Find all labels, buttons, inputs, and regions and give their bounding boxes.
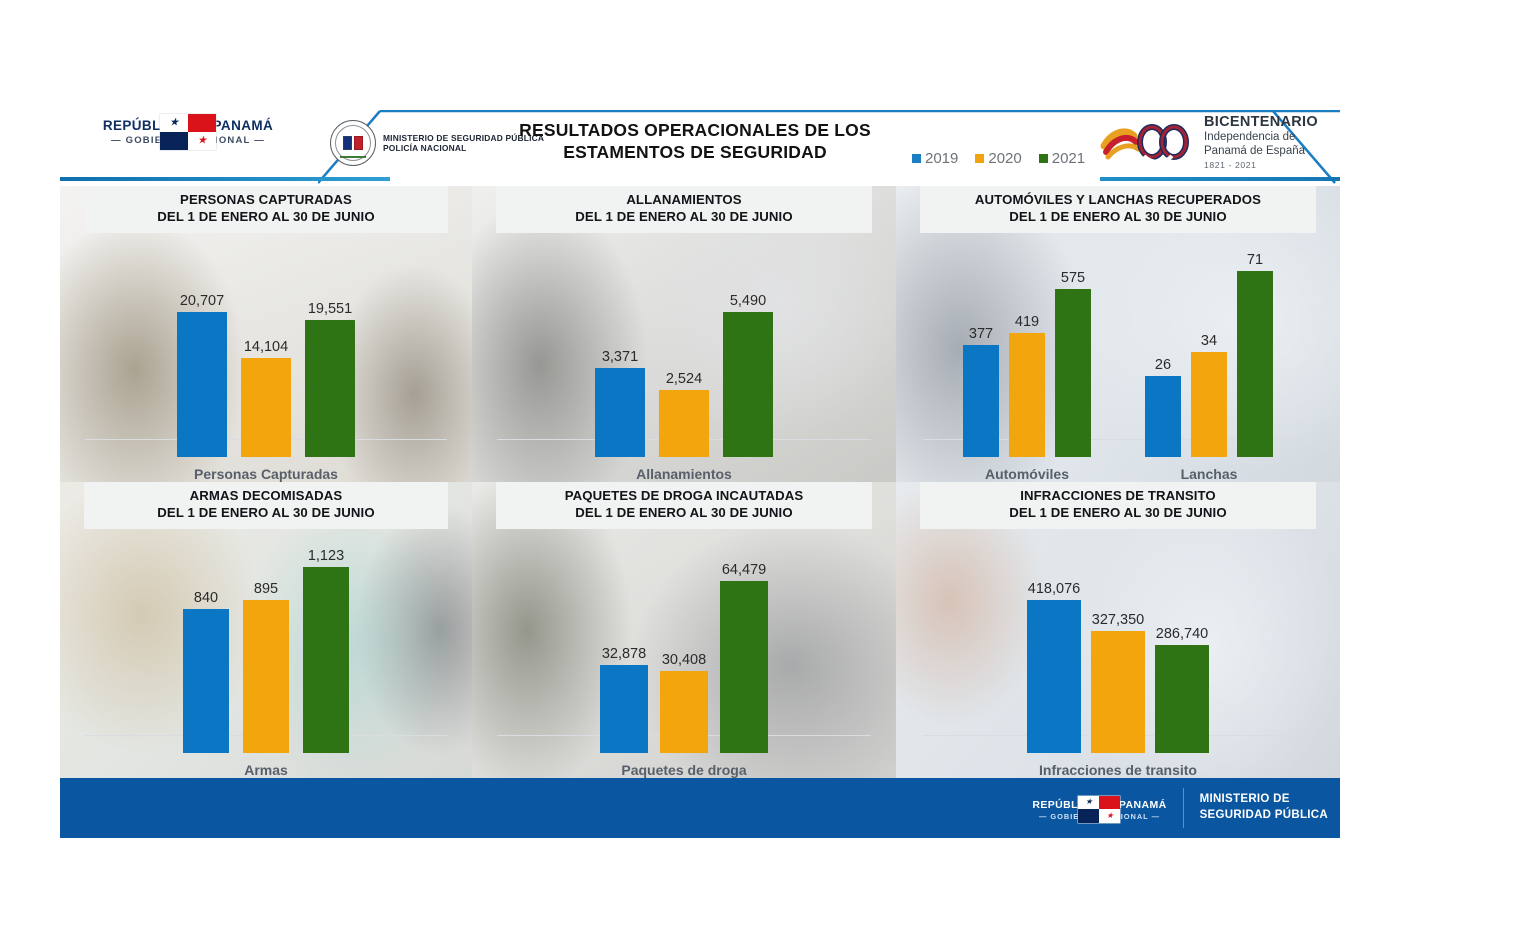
slide-canvas: ★ ★ REPÚBLICA DE PANAMÁ — GOBIERNO NACIO… (60, 108, 1340, 838)
category-label-lanchas: Lanchas (1145, 466, 1273, 482)
legend-item-2019: 2019 (912, 150, 958, 167)
bar-value-2021: 64,479 (722, 562, 766, 578)
bar-groups: 377 419 575 Autom (896, 265, 1340, 482)
bar-groups: 3,371 2,524 5,490 (472, 265, 896, 482)
bars: 20,707 14,104 19,551 (177, 265, 355, 457)
category-label-armas: Armas (183, 762, 349, 778)
bicentenario-line4: 1821 - 2021 (1204, 160, 1318, 170)
bar-rect-2019 (177, 312, 227, 457)
bar-rect-2021 (303, 567, 349, 753)
bar-2020[interactable]: 419 (1009, 314, 1045, 457)
chart-title-main: INFRACCIONES DE TRANSITO (926, 488, 1310, 505)
bar-value-2020: 2,524 (666, 371, 702, 387)
bar-value-2019: 840 (194, 590, 218, 606)
bar-rect-2020 (243, 600, 289, 753)
header: ★ ★ REPÚBLICA DE PANAMÁ — GOBIERNO NACIO… (60, 108, 1340, 186)
category-label-automoviles: Automóviles (963, 466, 1091, 482)
legend-swatch-2019 (912, 154, 921, 163)
bar-value-2020: 34 (1201, 333, 1217, 349)
chart-panel-infracciones-transito: INFRACCIONES DE TRANSITO DEL 1 DE ENERO … (896, 482, 1340, 778)
chart-title-armas-decomisadas: ARMAS DECOMISADAS DEL 1 DE ENERO AL 30 D… (84, 482, 448, 529)
footer-ministry-line1: MINISTERIO DE (1200, 792, 1328, 808)
bar-value-2019: 3,371 (602, 349, 638, 365)
legend-swatch-2021 (1039, 154, 1048, 163)
bar-rect-2019 (1145, 376, 1181, 457)
bar-value-2019: 32,878 (602, 646, 646, 662)
bar-rect-2019 (600, 665, 648, 753)
plot-area: 840 895 1,123 Arm (60, 544, 472, 778)
chart-title-personas-capturadas: PERSONAS CAPTURADAS DEL 1 DE ENERO AL 30… (84, 186, 448, 233)
bar-rect-2020 (1191, 352, 1227, 457)
bar-group-lanchas: 26 34 71 Lanchas (1145, 265, 1273, 482)
chart-title-main: PERSONAS CAPTURADAS (90, 192, 442, 209)
bar-rect-2019 (963, 345, 999, 457)
legend-label-2019: 2019 (925, 150, 958, 167)
bar-rect-2021 (305, 320, 355, 457)
plot-area: 418,076 327,350 286,740 (896, 544, 1340, 778)
legend-label-2020: 2020 (988, 150, 1021, 167)
bar-rect-2020 (1091, 631, 1145, 753)
footer-bar: ★ ★ REPÚBLICA DE PANAMÁ — GOBIERNO NACIO… (60, 778, 1340, 838)
bars: 377 419 575 (963, 265, 1091, 457)
bar-group-paquetes: 32,878 30,408 64,479 (600, 561, 768, 778)
chart-title-automoviles-lanchas: AUTOMÓVILES Y LANCHAS RECUPERADOS DEL 1 … (920, 186, 1316, 233)
bar-2020[interactable]: 327,350 (1091, 612, 1145, 753)
bar-2019[interactable]: 418,076 (1027, 581, 1081, 753)
bar-2019[interactable]: 20,707 (177, 293, 227, 457)
bicentenario-ribbon-icon (1100, 116, 1196, 168)
chart-subtitle: DEL 1 DE ENERO AL 30 DE JUNIO (90, 505, 442, 522)
bar-2020[interactable]: 30,408 (660, 652, 708, 753)
bar-rect-2021 (1055, 289, 1091, 457)
bar-value-2021: 19,551 (308, 301, 352, 317)
bar-2020[interactable]: 895 (243, 581, 289, 753)
bar-2021[interactable]: 5,490 (723, 293, 773, 457)
plot-area: 3,371 2,524 5,490 (472, 248, 896, 482)
bar-group-infracciones: 418,076 327,350 286,740 (1027, 561, 1209, 778)
legend-label-2021: 2021 (1052, 150, 1085, 167)
plot-area: 20,707 14,104 19,551 (60, 248, 472, 482)
category-label-personas: Personas Capturadas (177, 466, 355, 482)
bar-rect-2021 (1237, 271, 1273, 457)
chart-panel-paquetes-droga: PAQUETES DE DROGA INCAUTADAS DEL 1 DE EN… (472, 482, 896, 778)
bar-rect-2019 (183, 609, 229, 753)
bar-2019[interactable]: 26 (1145, 357, 1181, 457)
chart-title-main: AUTOMÓVILES Y LANCHAS RECUPERADOS (926, 192, 1310, 209)
bar-rect-2020 (1009, 333, 1045, 457)
chart-subtitle: DEL 1 DE ENERO AL 30 DE JUNIO (926, 505, 1310, 522)
bar-2021[interactable]: 19,551 (305, 301, 355, 457)
category-label-paquetes: Paquetes de droga (600, 762, 768, 778)
bar-rect-2019 (1027, 600, 1081, 753)
chart-panel-automoviles-lanchas: AUTOMÓVILES Y LANCHAS RECUPERADOS DEL 1 … (896, 186, 1340, 482)
bar-value-2021: 286,740 (1156, 626, 1208, 642)
bicentenario-line1: BICENTENARIO (1204, 114, 1318, 131)
bar-group-automoviles: 377 419 575 Autom (963, 265, 1091, 482)
chart-subtitle: DEL 1 DE ENERO AL 30 DE JUNIO (926, 209, 1310, 226)
footer-divider (1183, 788, 1184, 828)
page-title-line1: RESULTADOS OPERACIONALES DE LOS (452, 120, 938, 142)
bar-2020[interactable]: 14,104 (241, 339, 291, 457)
bars: 32,878 30,408 64,479 (600, 561, 768, 753)
legend-item-2020: 2020 (975, 150, 1021, 167)
bar-groups: 840 895 1,123 Arm (60, 561, 472, 778)
footer-ministry-line2: SEGURIDAD PÚBLICA (1200, 808, 1328, 824)
bar-group-personas: 20,707 14,104 19,551 (177, 265, 355, 482)
chart-title-main: ARMAS DECOMISADAS (90, 488, 442, 505)
bar-value-2021: 71 (1247, 252, 1263, 268)
header-rule-right (1100, 177, 1340, 181)
bar-2020[interactable]: 34 (1191, 333, 1227, 457)
bar-value-2020: 30,408 (662, 652, 706, 668)
bar-value-2019: 377 (969, 326, 993, 342)
bars: 3,371 2,524 5,490 (595, 265, 773, 457)
bar-rect-2021 (723, 312, 773, 457)
bar-2021[interactable]: 71 (1237, 252, 1273, 457)
bar-groups: 20,707 14,104 19,551 (60, 265, 472, 482)
chart-title-infracciones-transito: INFRACCIONES DE TRANSITO DEL 1 DE ENERO … (920, 482, 1316, 529)
bar-groups: 32,878 30,408 64,479 (472, 561, 896, 778)
bar-rect-2020 (241, 358, 291, 457)
bar-rect-2020 (659, 390, 709, 457)
bars: 26 34 71 (1145, 265, 1273, 457)
bar-2019[interactable]: 377 (963, 326, 999, 457)
police-seal-icon (330, 120, 376, 166)
bars: 840 895 1,123 (183, 561, 349, 753)
bar-2021[interactable]: 1,123 (303, 548, 349, 753)
bicentenario-line3: Panamá de España (1204, 145, 1318, 159)
category-label-allanamientos: Allanamientos (595, 466, 773, 482)
bar-value-2021: 5,490 (730, 293, 766, 309)
bars: 418,076 327,350 286,740 (1027, 561, 1209, 753)
bar-rect-2020 (660, 671, 708, 753)
page-title: RESULTADOS OPERACIONALES DE LOS ESTAMENT… (452, 120, 938, 164)
bar-2019[interactable]: 840 (183, 590, 229, 753)
chart-panel-allanamientos: ALLANAMIENTOS DEL 1 DE ENERO AL 30 DE JU… (472, 186, 896, 482)
chart-subtitle: DEL 1 DE ENERO AL 30 DE JUNIO (90, 209, 442, 226)
bar-2021[interactable]: 64,479 (720, 562, 768, 753)
bar-rect-2021 (720, 581, 768, 753)
bar-value-2020: 14,104 (244, 339, 288, 355)
legend-item-2021: 2021 (1039, 150, 1085, 167)
footer-republic-logo: ★ ★ REPÚBLICA DE PANAMÁ — GOBIERNO NACIO… (1032, 796, 1166, 821)
chart-subtitle: DEL 1 DE ENERO AL 30 DE JUNIO (502, 209, 866, 226)
chart-panel-personas-capturadas: PERSONAS CAPTURADAS DEL 1 DE ENERO AL 30… (60, 186, 472, 482)
bar-2021[interactable]: 286,740 (1155, 626, 1209, 753)
page-title-line2: ESTAMENTOS DE SEGURIDAD (452, 142, 938, 164)
chart-title-main: ALLANAMIENTOS (502, 192, 866, 209)
bar-group-allanamientos: 3,371 2,524 5,490 (595, 265, 773, 482)
plot-area: 377 419 575 Autom (896, 248, 1340, 482)
chart-title-main: PAQUETES DE DROGA INCAUTADAS (502, 488, 866, 505)
bar-2020[interactable]: 2,524 (659, 371, 709, 457)
bar-groups: 418,076 327,350 286,740 (896, 561, 1340, 778)
bicentenario-logo: BICENTENARIO Independencia de Panamá de … (1100, 114, 1318, 170)
bar-value-2020: 419 (1015, 314, 1039, 330)
bar-rect-2021 (1155, 645, 1209, 753)
bar-value-2021: 575 (1061, 270, 1085, 286)
bicentenario-line2: Independencia de (1204, 131, 1318, 145)
bar-2021[interactable]: 575 (1055, 270, 1091, 457)
footer-ministry: MINISTERIO DE SEGURIDAD PÚBLICA (1200, 792, 1328, 823)
republic-logo: ★ ★ REPÚBLICA DE PANAMÁ — GOBIERNO NACIO… (74, 114, 302, 146)
bar-value-2020: 895 (254, 581, 278, 597)
bar-2019[interactable]: 32,878 (600, 646, 648, 753)
chart-title-allanamientos: ALLANAMIENTOS DEL 1 DE ENERO AL 30 DE JU… (496, 186, 872, 233)
bar-value-2019: 418,076 (1028, 581, 1080, 597)
chart-legend: 2019 2020 2021 (912, 150, 1085, 167)
footer-logos: ★ ★ REPÚBLICA DE PANAMÁ — GOBIERNO NACIO… (1032, 778, 1328, 838)
bar-value-2021: 1,123 (308, 548, 344, 564)
bar-value-2019: 26 (1155, 357, 1171, 373)
bar-rect-2019 (595, 368, 645, 457)
category-label-infracciones: Infracciones de transito (1027, 762, 1209, 778)
bar-group-armas: 840 895 1,123 Arm (183, 561, 349, 778)
panama-flag-icon: ★ ★ (1078, 796, 1120, 823)
legend-swatch-2020 (975, 154, 984, 163)
chart-panel-armas-decomisadas: ARMAS DECOMISADAS DEL 1 DE ENERO AL 30 D… (60, 482, 472, 778)
bar-value-2020: 327,350 (1092, 612, 1144, 628)
plot-area: 32,878 30,408 64,479 (472, 544, 896, 778)
panama-flag-icon: ★ ★ (160, 114, 216, 150)
chart-title-paquetes-droga: PAQUETES DE DROGA INCAUTADAS DEL 1 DE EN… (496, 482, 872, 529)
chart-subtitle: DEL 1 DE ENERO AL 30 DE JUNIO (502, 505, 866, 522)
bar-2019[interactable]: 3,371 (595, 349, 645, 457)
bar-value-2019: 20,707 (180, 293, 224, 309)
chart-grid: PERSONAS CAPTURADAS DEL 1 DE ENERO AL 30… (60, 186, 1340, 778)
header-rule-left (60, 177, 390, 181)
